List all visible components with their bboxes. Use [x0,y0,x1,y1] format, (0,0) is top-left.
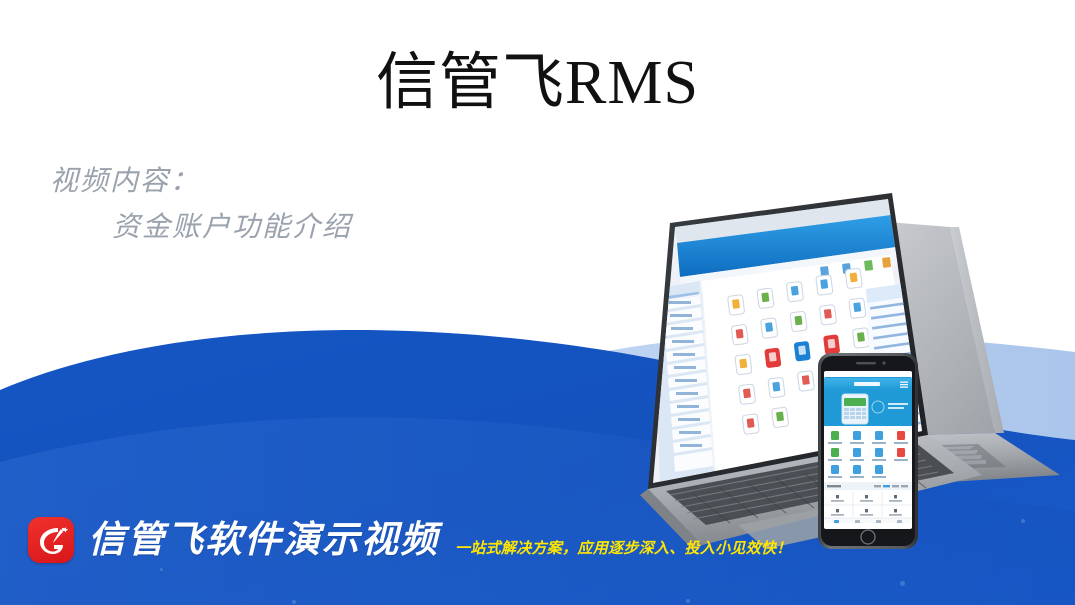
brand-bar: 信管飞软件演示视频 一站式解决方案，应用逐步深入、投入小见效快！ [28,517,792,563]
subtitle-label: 视频内容： [50,158,352,204]
presentation-slide: 信管飞RMS 视频内容： 资金账户功能介绍 [0,0,1075,605]
decorative-bubble [160,568,163,571]
device-mockups [470,185,1075,550]
decorative-bubble [900,581,905,586]
brand-name: 信管飞软件演示视频 [88,519,439,561]
slide-title: 信管飞RMS [0,46,1075,120]
smartphone [818,353,918,549]
brand-tagline: 一站式解决方案，应用逐步深入、投入小见效快！ [455,537,792,563]
decorative-bubble [686,599,690,603]
xinguanfei-bird-logo-icon [28,517,74,563]
subtitle-topic: 资金账户功能介绍 [50,204,352,250]
subtitle-block: 视频内容： 资金账户功能介绍 [50,158,352,250]
decorative-bubble [292,600,296,604]
